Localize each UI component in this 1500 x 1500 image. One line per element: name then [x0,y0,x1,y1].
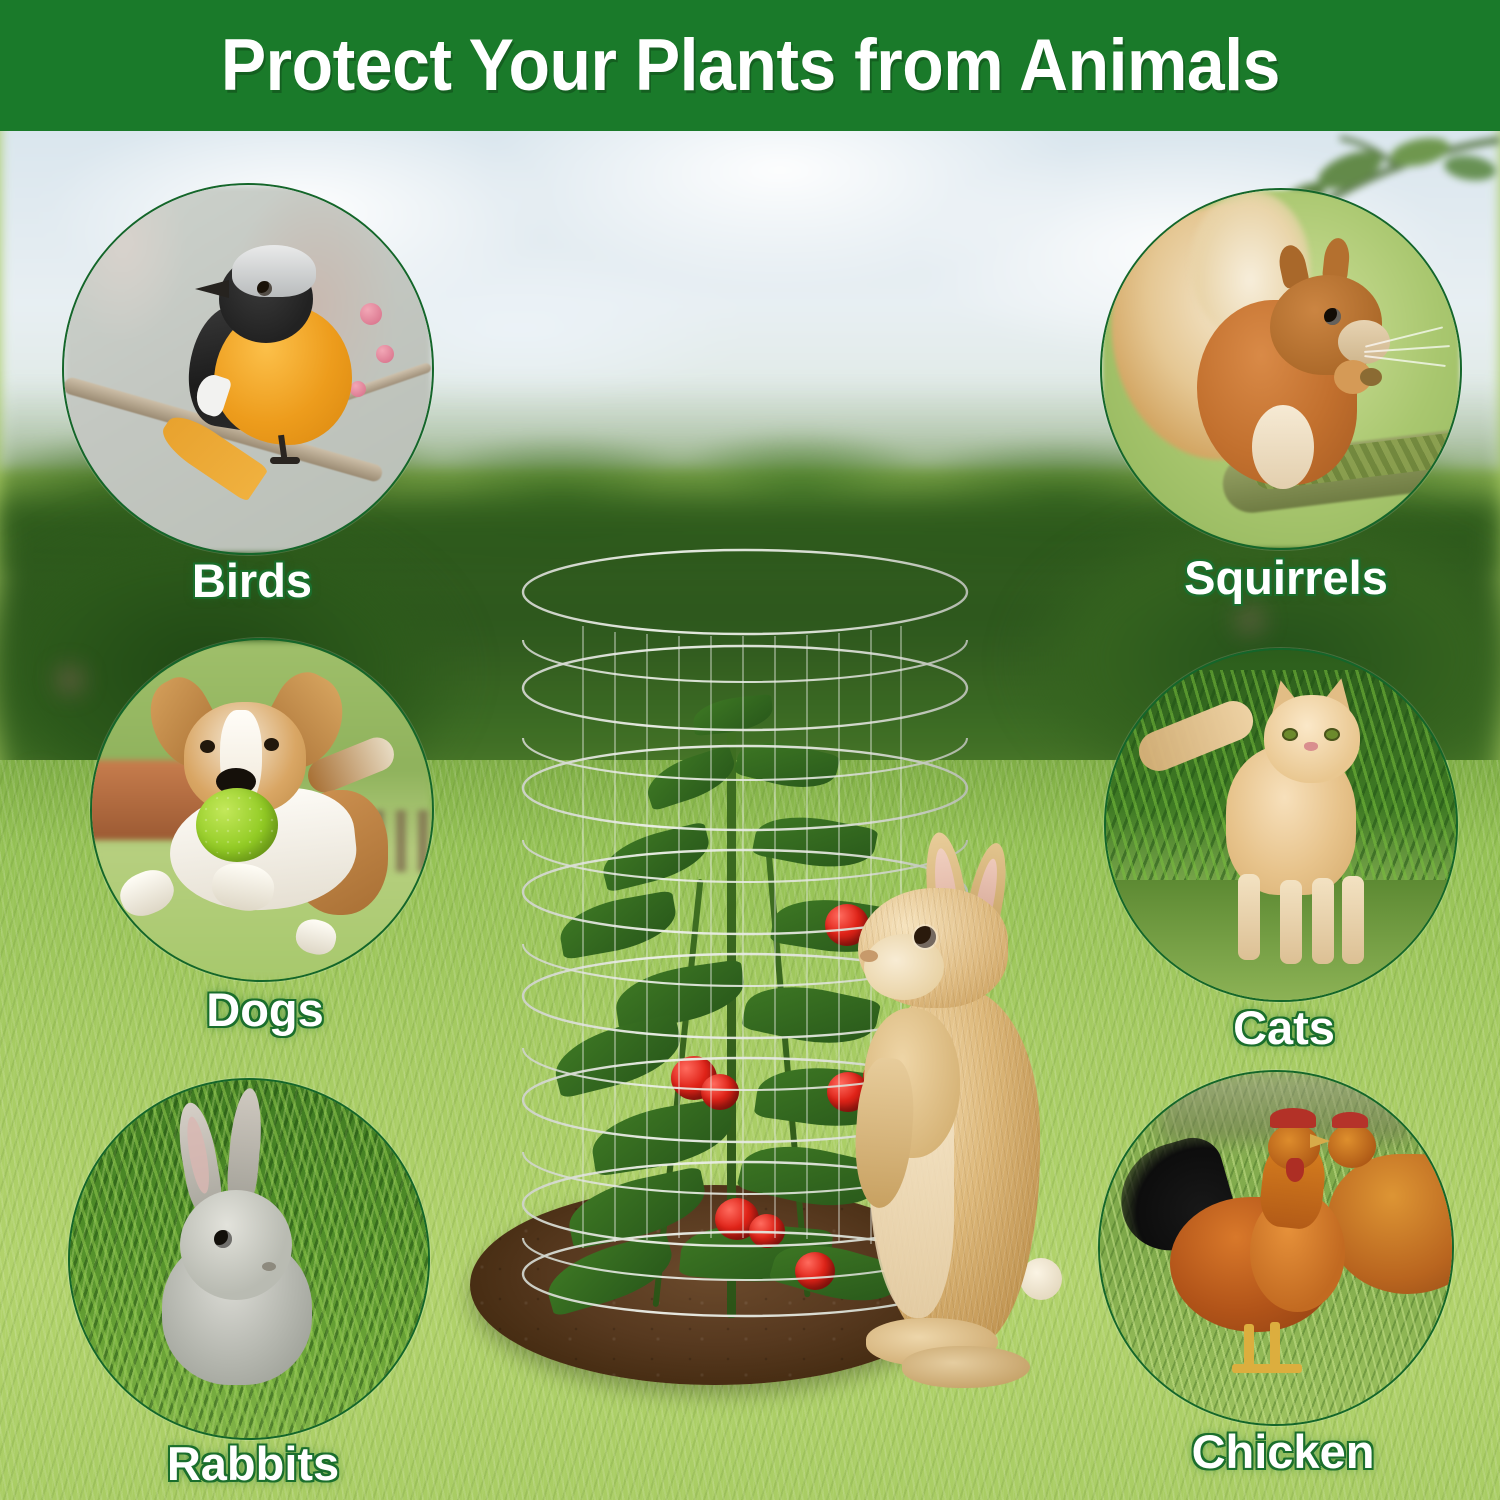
dog-photo-icon [92,640,432,980]
badge-label-dogs: Dogs [206,986,324,1033]
header-banner: Protect Your Plants from Animals [0,0,1500,131]
badge-label-squirrels: Squirrels [1184,554,1388,601]
rabbit-hind-foot [902,1346,1030,1388]
badge-ring-chicken [1098,1070,1454,1426]
badge-ring-cats [1104,648,1458,1002]
badge-label-rabbits: Rabbits [167,1440,339,1487]
cat-photo-icon [1106,650,1456,1000]
marketing-image: Protect Your Plants from Animals [0,0,1500,1500]
badge-label-birds: Birds [192,557,312,604]
dog-toy-ball-icon [196,788,278,862]
badge-ring-squirrels [1100,188,1462,550]
badge-cats[interactable]: Cats [1104,648,1464,1068]
badge-birds[interactable]: Birds [62,183,442,633]
badge-ring-dogs [90,638,434,982]
badge-squirrels[interactable]: Squirrels [1100,188,1472,638]
badge-rabbits[interactable]: Rabbits [68,1078,438,1498]
foreground-rabbit [840,838,1070,1408]
rabbit-nose [860,950,878,962]
squirrel-photo-icon [1102,190,1460,548]
badge-label-cats: Cats [1233,1004,1335,1051]
badge-dogs[interactable]: Dogs [90,638,440,1058]
page-title: Protect Your Plants from Animals [220,29,1279,102]
badge-chicken[interactable]: Chicken [1098,1070,1468,1500]
badge-label-chicken: Chicken [1192,1428,1375,1475]
badge-ring-birds [62,183,434,555]
rabbit-photo-icon [70,1080,428,1438]
bird-photo-icon [64,185,432,553]
chicken-photo-icon [1100,1072,1452,1424]
badge-ring-rabbits [68,1078,430,1440]
rabbit-eye [914,926,936,948]
